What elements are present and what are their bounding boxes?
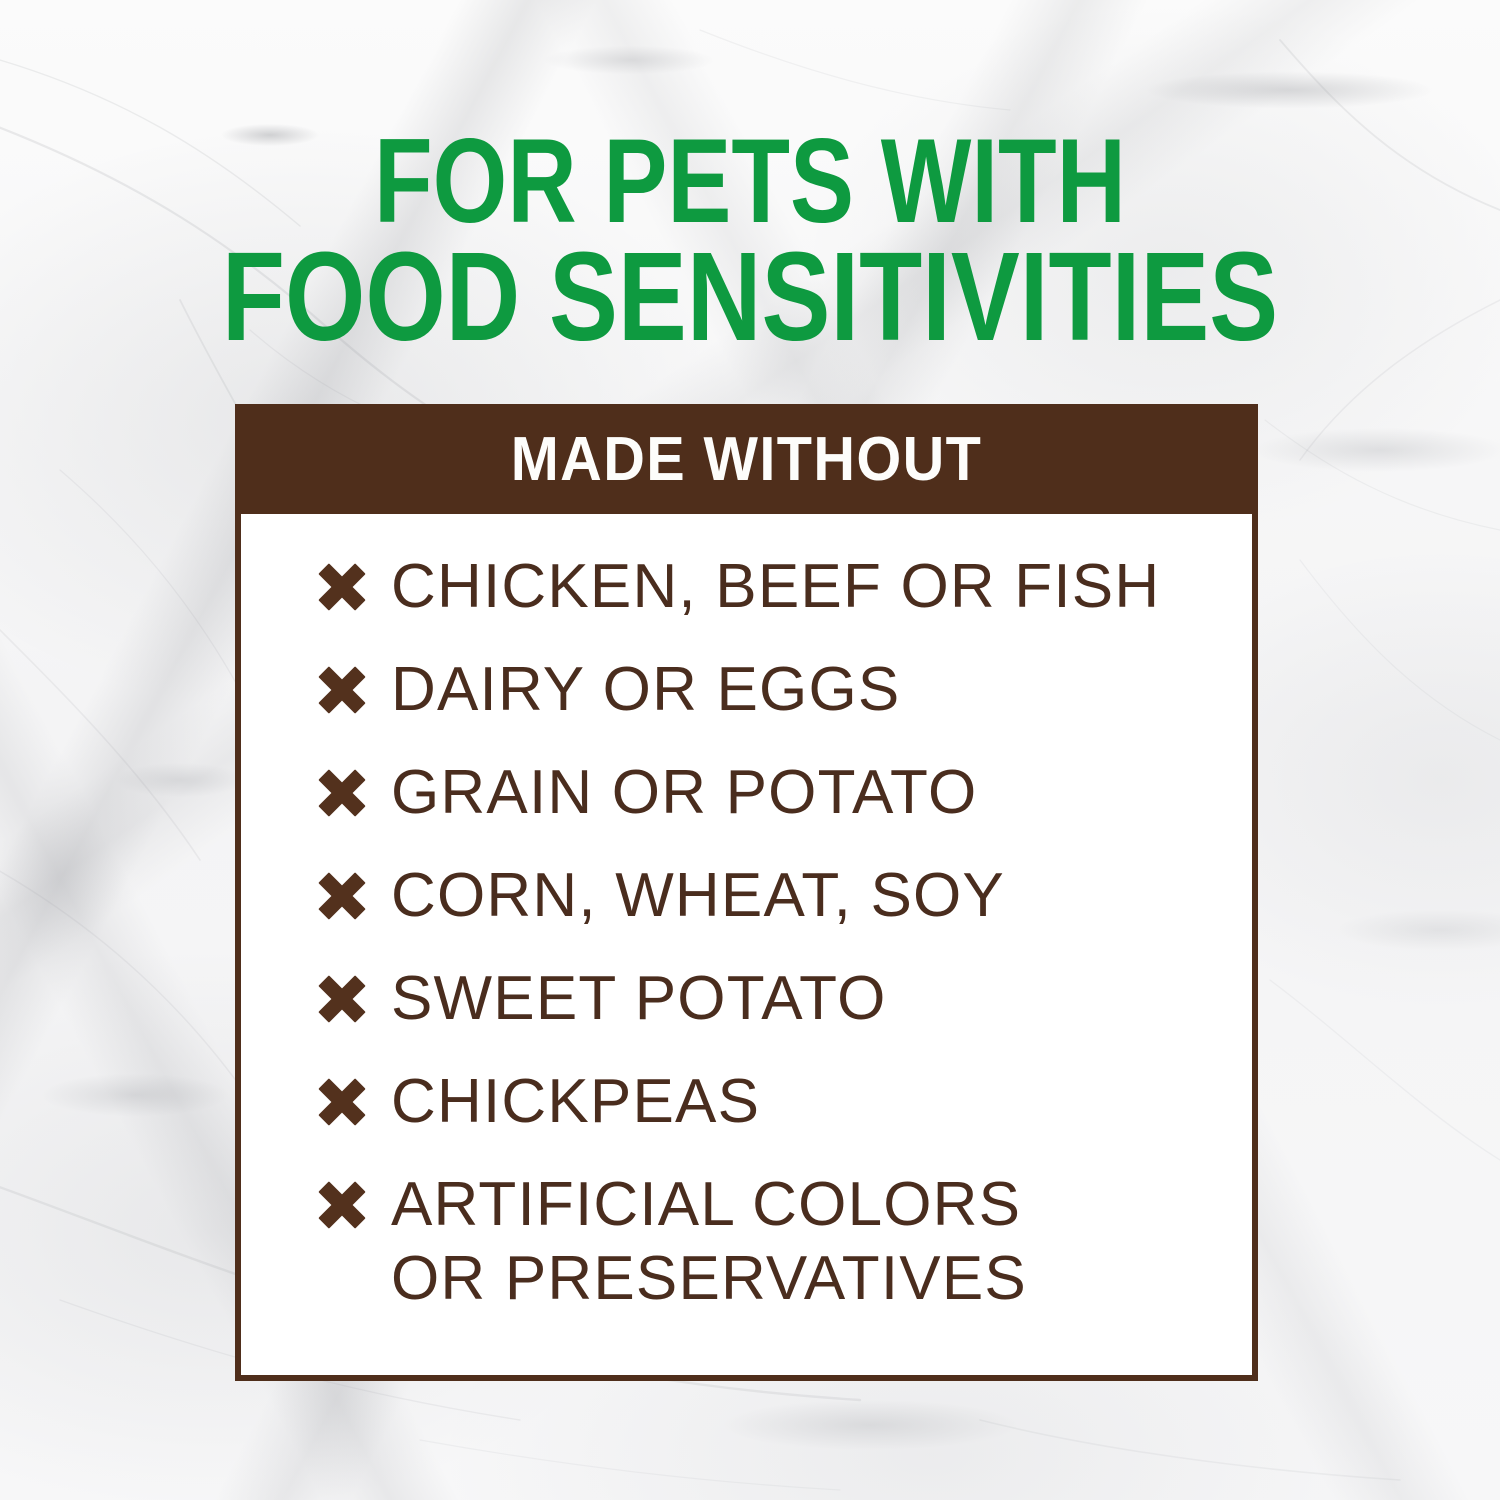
headline-line-1: FOR PETS WITH [150,122,1350,241]
x-mark-icon [319,976,365,1022]
panel-header-bar: MADE WITHOUT [235,404,1258,514]
x-mark-icon [319,1182,365,1228]
page-title: FOR PETS WITH FOOD SENSITIVITIES [0,122,1500,360]
made-without-panel: MADE WITHOUT CHICKEN, BEEF OR FISH DAIRY… [235,404,1258,1381]
x-mark-icon [319,564,365,610]
list-item-label: SWEET POTATO [391,962,887,1036]
list-item-label: DAIRY OR EGGS [391,653,900,727]
made-without-list: CHICKEN, BEEF OR FISH DAIRY OR EGGS GRAI… [241,550,1252,1328]
panel-body: CHICKEN, BEEF OR FISH DAIRY OR EGGS GRAI… [241,514,1252,1375]
list-item: GRAIN OR POTATO [241,756,1252,859]
list-item: CORN, WHEAT, SOY [241,859,1252,962]
list-item: ARTIFICIAL COLORS OR PRESERVATIVES [241,1168,1252,1328]
list-item-label: CHICKEN, BEEF OR FISH [391,550,1160,624]
list-item: DAIRY OR EGGS [241,653,1252,756]
list-item-label: ARTIFICIAL COLORS OR PRESERVATIVES [391,1168,1027,1316]
list-item-label: CORN, WHEAT, SOY [391,859,1005,933]
list-item-label: CHICKPEAS [391,1065,760,1139]
list-item: SWEET POTATO [241,962,1252,1065]
x-mark-icon [319,1079,365,1125]
list-item-label: GRAIN OR POTATO [391,756,977,830]
x-mark-icon [319,873,365,919]
x-mark-icon [319,667,365,713]
headline-line-2: FOOD SENSITIVITIES [135,235,1365,360]
list-item: CHICKEN, BEEF OR FISH [241,550,1252,653]
marketing-graphic: FOR PETS WITH FOOD SENSITIVITIES MADE WI… [0,0,1500,1500]
list-item: CHICKPEAS [241,1065,1252,1168]
x-mark-icon [319,770,365,816]
panel-header-title: MADE WITHOUT [511,424,983,495]
